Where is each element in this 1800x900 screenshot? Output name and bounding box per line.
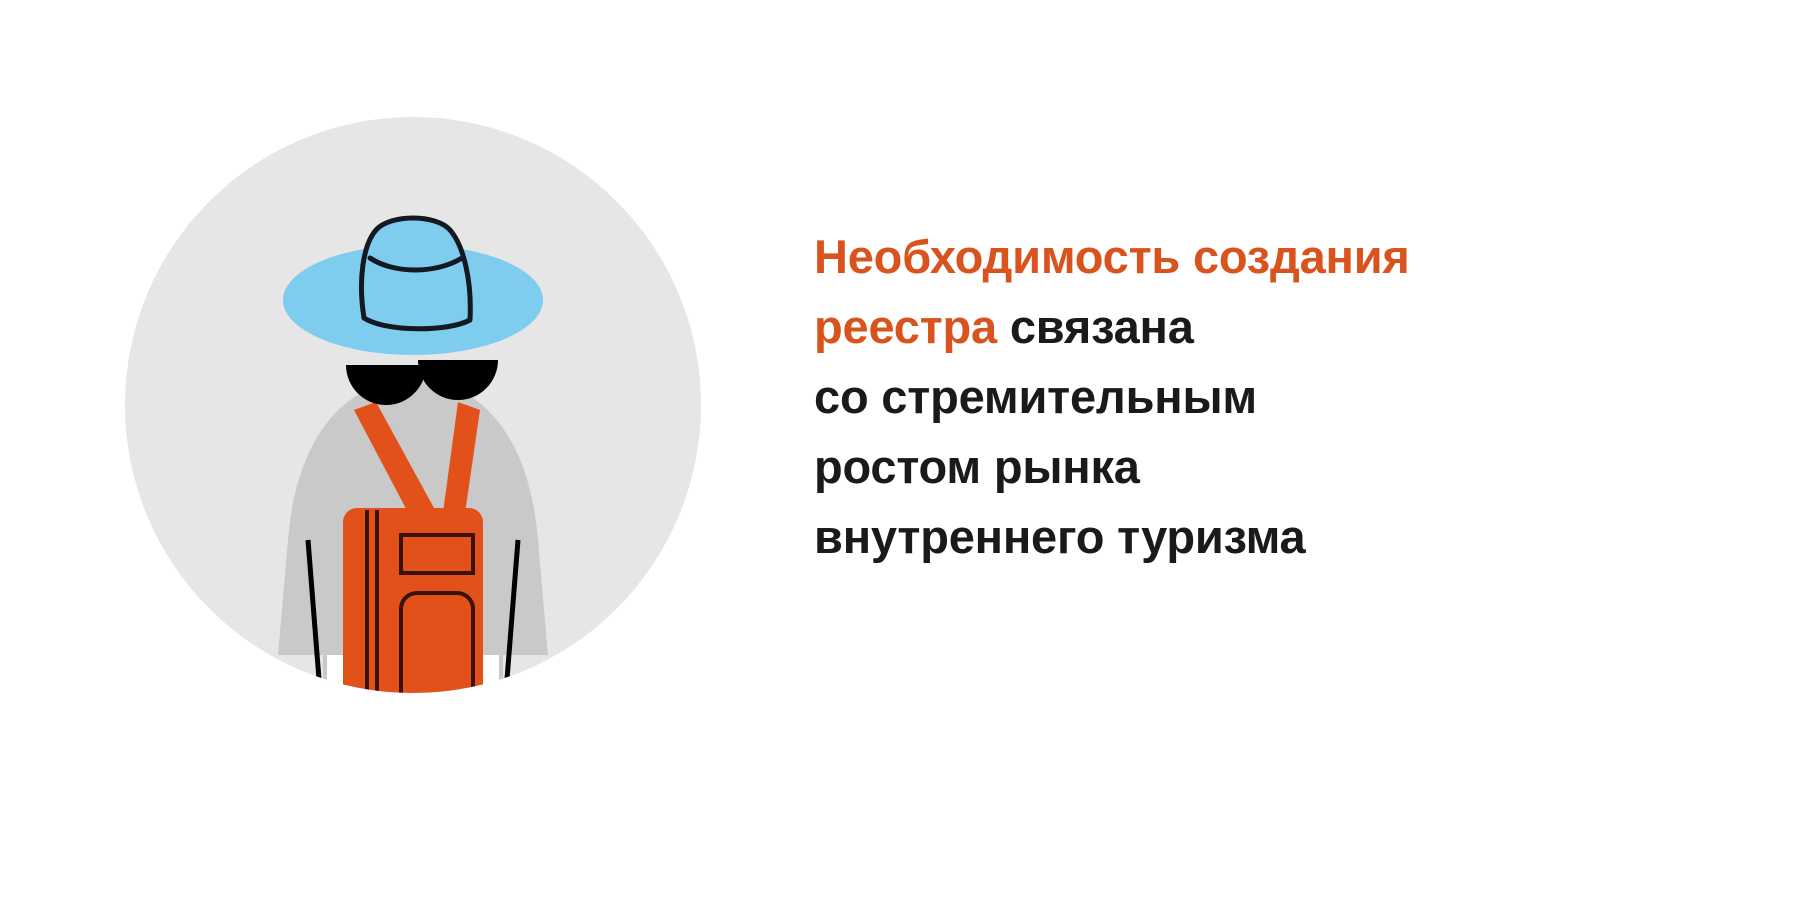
slide-root: Необходимость создания реестра связана с…	[0, 0, 1800, 900]
tourist-illustration	[118, 110, 708, 700]
page-title: Необходимость создания реестра связана с…	[814, 222, 1514, 572]
headline-block: Необходимость создания реестра связана с…	[814, 222, 1514, 572]
hat-crown	[361, 218, 470, 329]
